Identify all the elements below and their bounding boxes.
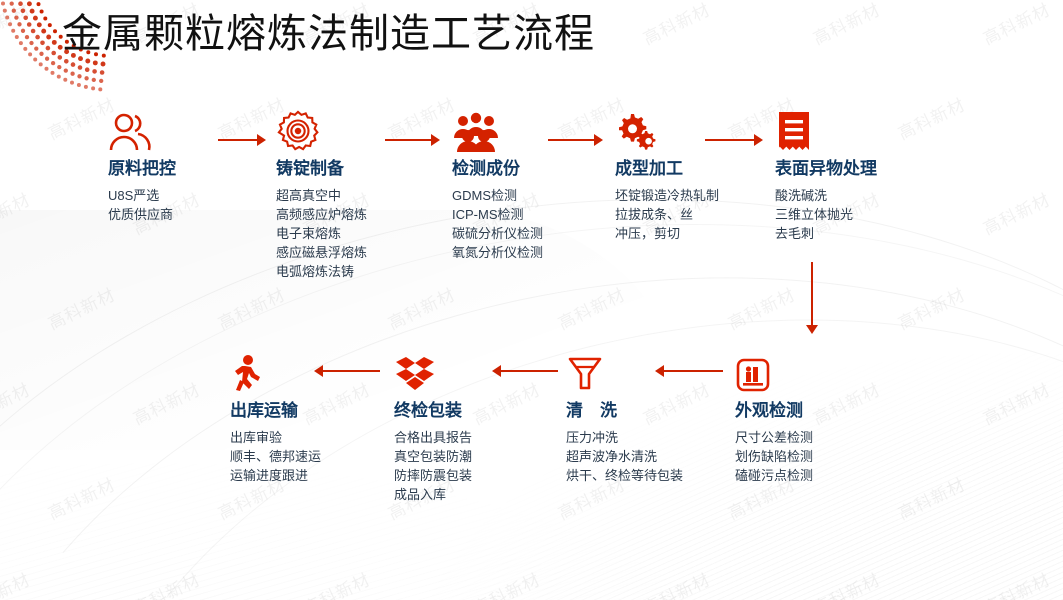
step-line: 优质供应商	[108, 205, 258, 224]
step-line: 划伤缺陷检测	[735, 447, 900, 466]
flow-step-raw-material-control[interactable]: 原料把控 U8S严选优质供应商	[108, 110, 258, 224]
step-line: U8S严选	[108, 186, 258, 205]
step-line: 碳硫分析仪检测	[452, 224, 607, 243]
watermark-text: 高科新材	[978, 0, 1054, 50]
step-lines: 出库审验顺丰、德邦速运运输进度跟进	[230, 428, 370, 485]
connector-arrow-1-2	[218, 134, 266, 146]
page-title: 金属颗粒熔炼法制造工艺流程	[62, 6, 595, 62]
watermark-text: 高科新材	[978, 185, 1054, 239]
step-line: 超高真空中	[276, 186, 431, 205]
step-line: 出库审验	[230, 428, 370, 447]
watermark-text: 高科新材	[468, 565, 544, 600]
watermark-text: 高科新材	[638, 0, 714, 50]
connector-arrow-4-5	[705, 134, 763, 146]
step-line: ICP-MS检测	[452, 205, 607, 224]
background-decoration	[0, 0, 1063, 600]
step-line: 顺丰、德邦速运	[230, 447, 370, 466]
watermark-text: 高科新材	[808, 0, 884, 50]
step-lines: 合格出具报告真空包装防潮防摔防震包装成品入库	[394, 428, 534, 504]
watermark-text: 高科新材	[213, 280, 289, 334]
step-title: 出库运输	[230, 400, 370, 422]
step-lines: GDMS检测ICP-MS检测碳硫分析仪检测氧氮分析仪检测	[452, 186, 607, 262]
step-line: 运输进度跟进	[230, 466, 370, 485]
watermark-text: 高科新材	[383, 280, 459, 334]
watermark-text: 高科新材	[893, 470, 969, 524]
step-line: 尺寸公差检测	[735, 428, 900, 447]
watermark-text: 高科新材	[723, 280, 799, 334]
step-title: 成型加工	[615, 158, 770, 180]
step-line: 氧氮分析仪检测	[452, 243, 607, 262]
step-title: 原料把控	[108, 158, 258, 180]
step-line: 感应磁悬浮熔炼	[276, 243, 431, 262]
connector-arrow-3-4	[548, 134, 603, 146]
connector-arrow-5-6	[806, 262, 818, 334]
step-line: 去毛刺	[775, 224, 940, 243]
step-lines: 尺寸公差检测划伤缺陷检测磕碰污点检测	[735, 428, 900, 485]
step-title: 清 洗	[566, 400, 694, 422]
watermark-text: 高科新材	[43, 470, 119, 524]
connector-arrow-7-8	[492, 365, 558, 377]
step-line: 高频感应炉熔炼	[276, 205, 431, 224]
watermark-text: 高科新材	[553, 280, 629, 334]
step-line: 电弧熔炼法铸	[276, 262, 431, 281]
step-lines: 压力冲洗超声波净水清洗烘干、终检等待包装	[566, 428, 694, 485]
watermark-text: 高科新材	[978, 565, 1054, 600]
watermark-text: 高科新材	[0, 375, 34, 429]
step-lines: 超高真空中高频感应炉熔炼电子束熔炼感应磁悬浮熔炼电弧熔炼法铸	[276, 186, 431, 281]
step-line: 三维立体抛光	[775, 205, 940, 224]
step-lines: 坯锭锻造冷热轧制拉拔成条、丝冲压，剪切	[615, 186, 770, 243]
watermark-text: 高科新材	[638, 565, 714, 600]
watermark-text: 高科新材	[978, 375, 1054, 429]
step-line: 电子束熔炼	[276, 224, 431, 243]
step-title: 终检包装	[394, 400, 534, 422]
step-line: 拉拔成条、丝	[615, 205, 770, 224]
watermark-text: 高科新材	[298, 565, 374, 600]
step-title: 检测成份	[452, 158, 607, 180]
step-line: 防摔防震包装	[394, 466, 534, 485]
inspection-box-icon	[735, 352, 900, 394]
step-line: 成品入库	[394, 485, 534, 504]
step-lines: U8S严选优质供应商	[108, 186, 258, 224]
flow-step-forming-processing[interactable]: 成型加工 坯锭锻造冷热轧制拉拔成条、丝冲压，剪切	[615, 110, 770, 243]
step-line: 合格出具报告	[394, 428, 534, 447]
watermark-text: 高科新材	[128, 565, 204, 600]
step-line: 烘干、终检等待包装	[566, 466, 694, 485]
connector-arrow-2-3	[385, 134, 440, 146]
connector-arrow-8-9	[314, 365, 380, 377]
step-line: GDMS检测	[452, 186, 607, 205]
step-line: 酸洗碱洗	[775, 186, 940, 205]
flow-step-composition-inspection[interactable]: 检测成份 GDMS检测ICP-MS检测碳硫分析仪检测氧氮分析仪检测	[452, 110, 607, 262]
watermark-text: 高科新材	[128, 375, 204, 429]
flow-step-surface-foreign-matter-treatment[interactable]: 表面异物处理 酸洗碱洗三维立体抛光去毛刺	[775, 110, 940, 243]
step-line: 真空包装防潮	[394, 447, 534, 466]
step-line: 坯锭锻造冷热轧制	[615, 186, 770, 205]
flow-step-appearance-inspection[interactable]: 外观检测 尺寸公差检测划伤缺陷检测磕碰污点检测	[735, 352, 900, 485]
step-title: 外观检测	[735, 400, 900, 422]
step-title: 表面异物处理	[775, 158, 940, 180]
watermark-text: 高科新材	[0, 185, 34, 239]
watermark-layer: 高科新材高科新材高科新材高科新材高科新材高科新材高科新材高科新材高科新材高科新材…	[0, 0, 1063, 600]
step-line: 冲压，剪切	[615, 224, 770, 243]
watermark-text: 高科新材	[43, 280, 119, 334]
connector-arrow-6-7	[655, 365, 723, 377]
document-lines-icon	[775, 110, 940, 152]
step-line: 磕碰污点检测	[735, 466, 900, 485]
step-line: 超声波净水清洗	[566, 447, 694, 466]
watermark-text: 高科新材	[893, 280, 969, 334]
step-title: 铸锭制备	[276, 158, 431, 180]
watermark-text: 高科新材	[808, 565, 884, 600]
watermark-text: 高科新材	[0, 565, 34, 600]
step-lines: 酸洗碱洗三维立体抛光去毛刺	[775, 186, 940, 243]
step-line: 压力冲洗	[566, 428, 694, 447]
